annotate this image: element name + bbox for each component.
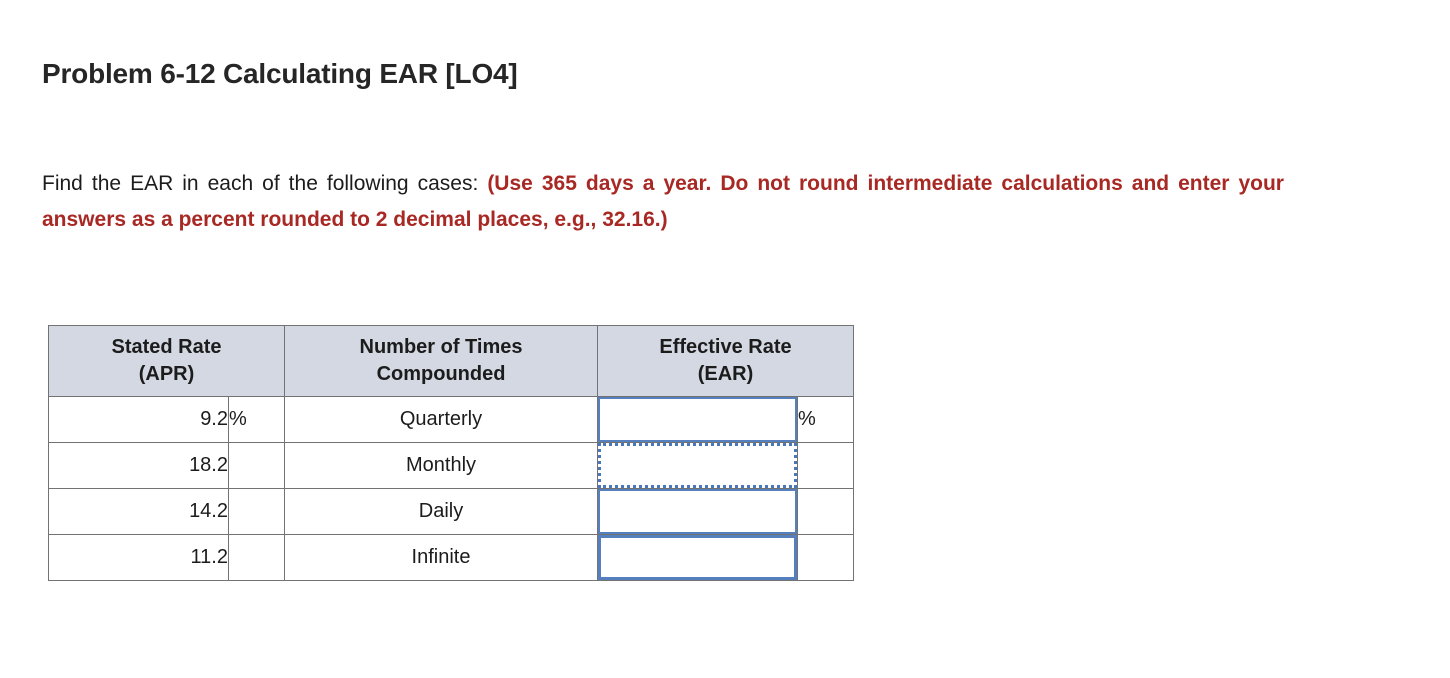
table-row: 14.2 Daily — [49, 489, 854, 535]
instructions-plain-text: Find the EAR in each of the following ca… — [42, 172, 487, 195]
stated-rate-value: 9.2 — [49, 397, 229, 443]
effective-rate-unit — [798, 443, 854, 489]
page-title: Problem 6-12 Calculating EAR [LO4] — [42, 58, 518, 90]
ear-table: Stated Rate (APR) Number of Times Compou… — [48, 325, 854, 581]
stated-rate-unit — [229, 489, 285, 535]
stated-rate-unit: % — [229, 397, 285, 443]
problem-page: Problem 6-12 Calculating EAR [LO4] Find … — [0, 0, 1450, 678]
column-header-stated-rate-line2: (APR) — [55, 361, 278, 388]
table-row: 11.2 Infinite — [49, 535, 854, 581]
table-row: 9.2 % Quarterly % — [49, 397, 854, 443]
effective-rate-input-monthly[interactable] — [598, 443, 797, 488]
effective-rate-input-cell[interactable] — [598, 443, 798, 489]
times-compounded-value: Monthly — [285, 443, 598, 489]
table-body: 9.2 % Quarterly % 18.2 Monthly 14.2 — [49, 397, 854, 581]
effective-rate-unit — [798, 535, 854, 581]
effective-rate-input-quarterly[interactable] — [598, 397, 797, 442]
column-header-effective-rate-line1: Effective Rate — [604, 334, 847, 361]
column-header-stated-rate: Stated Rate (APR) — [49, 326, 285, 397]
stated-rate-value: 18.2 — [49, 443, 229, 489]
instructions-paragraph: Find the EAR in each of the following ca… — [42, 166, 1284, 238]
column-header-stated-rate-line1: Stated Rate — [55, 334, 278, 361]
column-header-times-compounded-line2: Compounded — [291, 361, 591, 388]
effective-rate-input-infinite[interactable] — [598, 535, 797, 580]
times-compounded-value: Daily — [285, 489, 598, 535]
column-header-effective-rate: Effective Rate (EAR) — [598, 326, 854, 397]
effective-rate-unit: % — [798, 397, 854, 443]
effective-rate-input-daily[interactable] — [598, 489, 797, 534]
column-header-effective-rate-line2: (EAR) — [604, 361, 847, 388]
column-header-times-compounded-line1: Number of Times — [291, 334, 591, 361]
times-compounded-value: Infinite — [285, 535, 598, 581]
effective-rate-input-cell[interactable] — [598, 489, 798, 535]
stated-rate-unit — [229, 443, 285, 489]
table-row: 18.2 Monthly — [49, 443, 854, 489]
times-compounded-value: Quarterly — [285, 397, 598, 443]
effective-rate-input-cell[interactable] — [598, 535, 798, 581]
table-header: Stated Rate (APR) Number of Times Compou… — [49, 326, 854, 397]
table-header-row: Stated Rate (APR) Number of Times Compou… — [49, 326, 854, 397]
stated-rate-value: 14.2 — [49, 489, 229, 535]
effective-rate-input-cell[interactable] — [598, 397, 798, 443]
column-header-times-compounded: Number of Times Compounded — [285, 326, 598, 397]
stated-rate-unit — [229, 535, 285, 581]
stated-rate-value: 11.2 — [49, 535, 229, 581]
effective-rate-unit — [798, 489, 854, 535]
